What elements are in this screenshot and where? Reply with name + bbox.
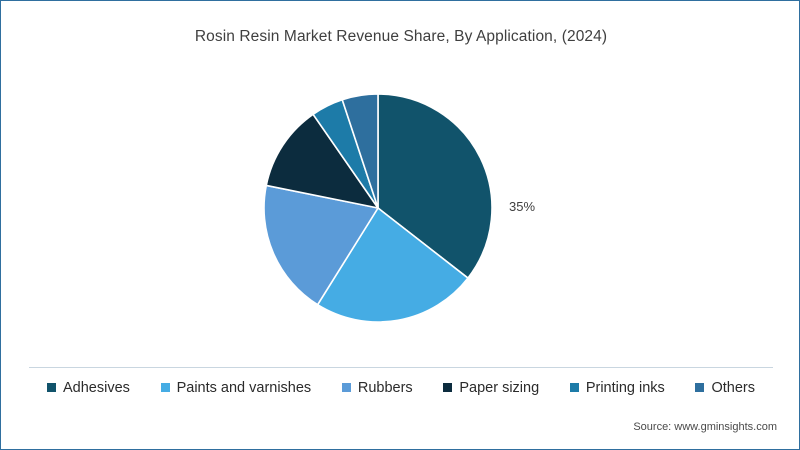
legend-item-paints-and-varnishes[interactable]: Paints and varnishes <box>161 380 312 396</box>
source-text: Source: www.gminsights.com <box>633 421 777 433</box>
legend-item-label: Adhesives <box>63 380 130 396</box>
legend-swatch-icon <box>47 383 56 392</box>
legend-item-label: Printing inks <box>586 380 665 396</box>
legend-item-printing-inks[interactable]: Printing inks <box>570 380 665 396</box>
legend-swatch-icon <box>695 383 704 392</box>
legend-item-label: Rubbers <box>358 380 413 396</box>
chart-legend: AdhesivesPaints and varnishesRubbersPape… <box>29 367 773 407</box>
data-label-adhesives: 35% <box>509 199 535 214</box>
legend-swatch-icon <box>161 383 170 392</box>
legend-swatch-icon <box>443 383 452 392</box>
legend-item-label: Others <box>711 380 755 396</box>
legend-swatch-icon <box>342 383 351 392</box>
legend-item-label: Paper sizing <box>459 380 539 396</box>
pie-chart <box>263 93 493 323</box>
page-title: Rosin Resin Market Revenue Share, By App… <box>1 28 800 46</box>
legend-item-paper-sizing[interactable]: Paper sizing <box>443 380 539 396</box>
chart-card: Rosin Resin Market Revenue Share, By App… <box>0 0 800 450</box>
pie-chart-svg <box>263 93 493 323</box>
legend-swatch-icon <box>570 383 579 392</box>
pie-slice-group <box>264 94 492 322</box>
legend-item-others[interactable]: Others <box>695 380 755 396</box>
legend-item-rubbers[interactable]: Rubbers <box>342 380 413 396</box>
legend-item-adhesives[interactable]: Adhesives <box>47 380 130 396</box>
legend-item-label: Paints and varnishes <box>177 380 312 396</box>
